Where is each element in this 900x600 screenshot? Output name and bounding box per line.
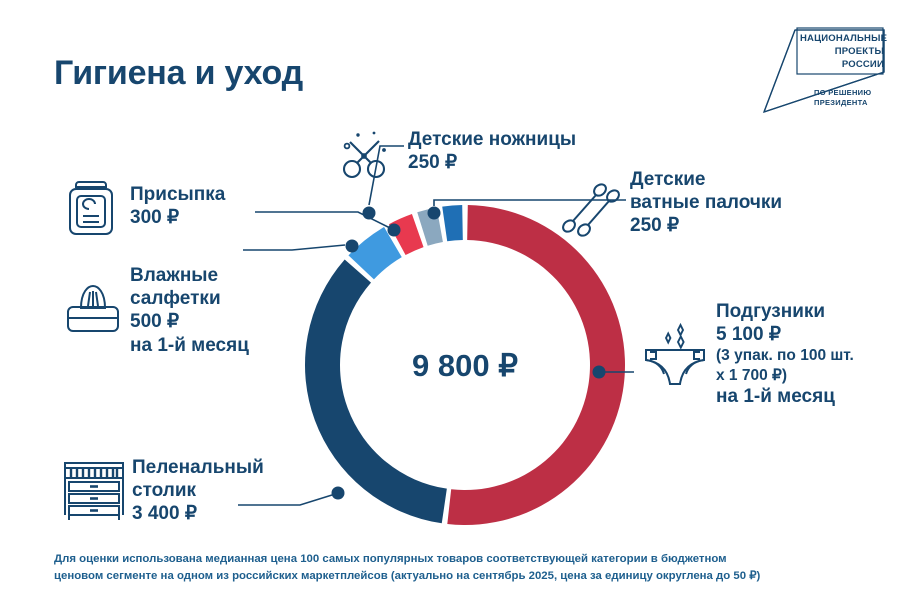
callout-wipes-title: Влажные салфетки <box>130 264 249 310</box>
donut-slice <box>442 205 463 241</box>
callout-diapers-title: Подгузники <box>716 300 854 323</box>
logo-text-line2: ПРОЕКТЫ <box>800 46 884 57</box>
callout-scissors-title: Детские ножницы <box>408 128 576 151</box>
infographic-canvas: Гигиена и уход НАЦИОНАЛЬНЫЕ ПРОЕКТЫ РОСС… <box>0 0 900 600</box>
donut-slice <box>305 260 447 524</box>
changing-table-icon <box>60 455 128 523</box>
baby-powder-bottle-icon <box>66 176 116 238</box>
callout-wipes-price: 500 ₽ <box>130 310 249 333</box>
baby-scissors-icon <box>338 128 392 182</box>
callout-scissors: Детские ножницы 250 ₽ <box>408 128 576 174</box>
callout-scissors-price: 250 ₽ <box>408 151 576 174</box>
callout-powder: Присыпка 300 ₽ <box>130 183 225 229</box>
callout-wet-wipes: Влажные салфетки 500 ₽ на 1-й месяц <box>130 264 249 357</box>
wet-wipes-box-icon <box>62 282 124 336</box>
callout-diapers: Подгузники 5 100 ₽ (3 упак. по 100 шт. х… <box>716 300 854 409</box>
callout-table-price: 3 400 ₽ <box>132 502 264 525</box>
callout-wipes-period: на 1-й месяц <box>130 334 249 358</box>
callout-changing-table: Пеленальный столик 3 400 ₽ <box>132 456 264 526</box>
logo-text-line3: РОССИИ <box>800 59 884 70</box>
page-title: Гигиена и уход <box>54 54 303 93</box>
diaper-icon <box>638 322 712 394</box>
logo-subtext-line1: ПО РЕШЕНИЮ <box>814 88 871 97</box>
national-projects-logo: НАЦИОНАЛЬНЫЕ ПРОЕКТЫ РОССИИ ПО РЕШЕНИЮ П… <box>760 22 890 118</box>
footnote: Для оценки использована медианная цена 1… <box>54 551 844 584</box>
callout-diapers-period: на 1-й месяц <box>716 385 854 409</box>
callout-swabs-title: Детские ватные палочки <box>630 168 782 214</box>
logo-subtext-line2: ПРЕЗИДЕНТА <box>814 98 868 107</box>
callout-table-title: Пеленальный столик <box>132 456 264 502</box>
cotton-swabs-icon <box>556 178 620 240</box>
logo-text-line1: НАЦИОНАЛЬНЫЕ <box>800 33 884 44</box>
callout-diapers-price: 5 100 ₽ <box>716 323 854 346</box>
donut-slice <box>417 208 443 246</box>
callout-powder-price: 300 ₽ <box>130 206 225 229</box>
callout-powder-title: Присыпка <box>130 183 225 206</box>
donut-center-total: 9 800 ₽ <box>370 348 560 384</box>
callout-cotton-swabs: Детские ватные палочки 250 ₽ <box>630 168 782 238</box>
callout-diapers-note: (3 упак. по 100 шт. х 1 700 ₽) <box>716 346 854 385</box>
callout-swabs-price: 250 ₽ <box>630 214 782 237</box>
